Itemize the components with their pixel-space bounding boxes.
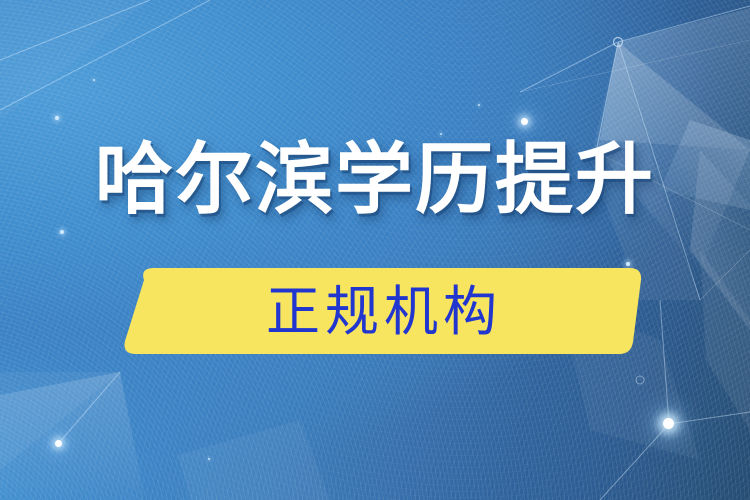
ribbon-label: 正规机构 (110, 285, 658, 339)
background-polygon-graphics (0, 0, 750, 500)
highlight-ribbon: 正规机构 (110, 258, 658, 364)
banner-headline: 哈尔滨学历提升 (0, 141, 750, 219)
promo-banner: 哈尔滨学历提升 正规机构 (0, 0, 750, 500)
